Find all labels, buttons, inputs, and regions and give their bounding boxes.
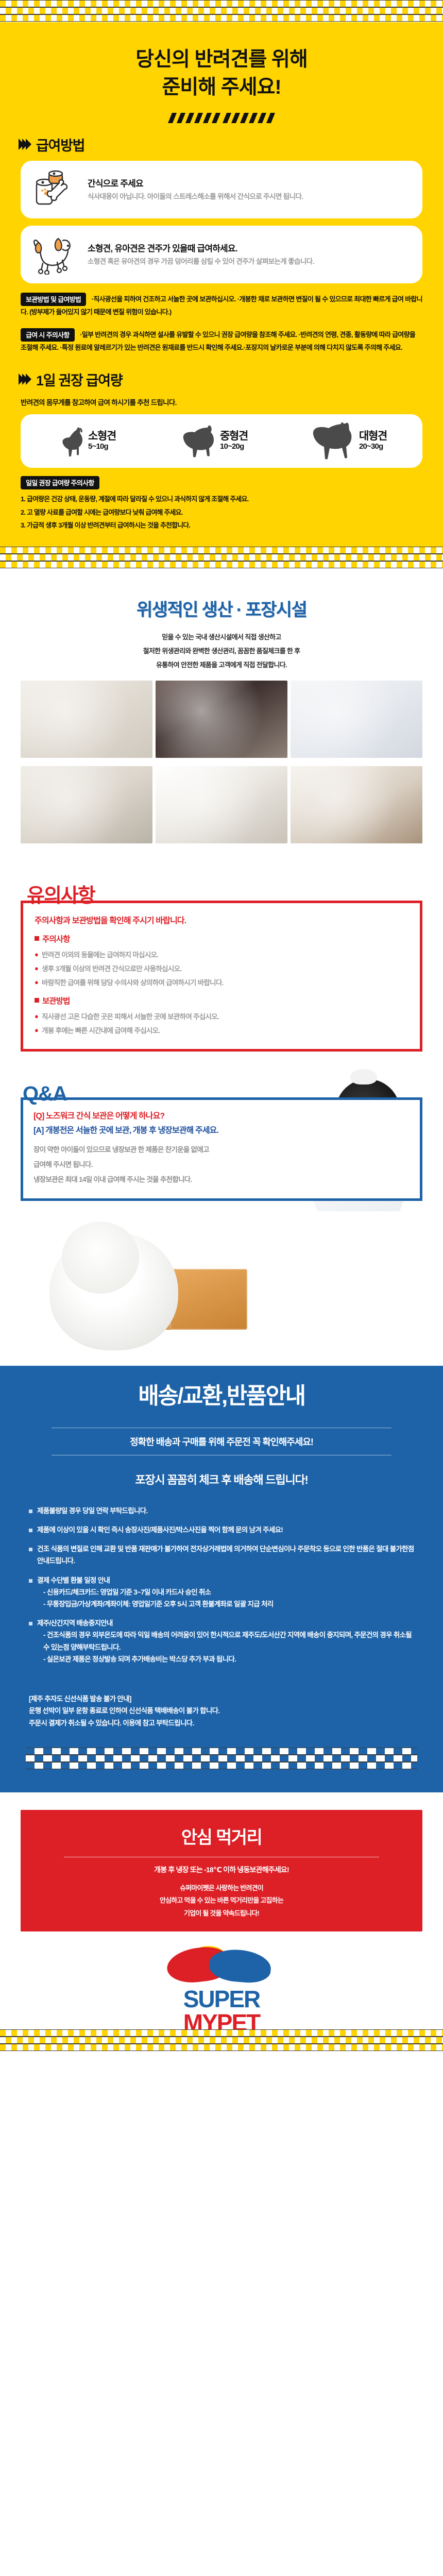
dog-size-label: 대형견 20~30g — [359, 431, 387, 451]
box-taping-photo — [291, 766, 422, 843]
chevrons-right-icon — [21, 139, 31, 150]
slash-divider — [0, 113, 443, 124]
daily-note-item: 1. 급여량은 건강 상태, 운동량, 계절에 따라 달라질 수 있으니 과식하… — [21, 493, 422, 506]
hero-title-line2: 준비해 주세요! — [0, 74, 443, 101]
qa-title: Q&A — [0, 1082, 443, 1106]
daily-notes-tag: 일일 권장 급여량 주의사항 — [21, 476, 99, 489]
white-fluffy-dog-with-box-photo — [0, 1211, 443, 1366]
checker-ribbon-blue-wrap — [0, 1748, 443, 1787]
shipping-item-text: 건조 식품의 변질로 인해 교환 및 반품 재판매가 불가하여 전자상거래법에 … — [37, 1543, 414, 1567]
brand-logo-art: SUPER MYPET www.supermypet.com 슈퍼마이펫 — [113, 1945, 330, 2022]
qa-question: [Q] 노즈워크 간식 보관은 어떻게 하나요? — [33, 1109, 410, 1124]
safe-food-title: 안심 먹거리 — [21, 1823, 422, 1849]
caution-item: ●반려견 이외의 동물에는 급여하지 마십시오. — [35, 948, 408, 962]
facility-section: 위생적인 생산 · 포장시설 믿을 수 있는 국내 생산시설에서 직접 생산하고… — [0, 569, 443, 857]
feeding-caution-text: ·일부 반려견의 경우 과식하면 설사를 유발할 수 있으니 권장 급여량을 참… — [21, 331, 415, 352]
shipping-item-sub: - 건조식품의 경우 외부온도에 따라 익일 배송의 어려움이 있어 한시적으로… — [37, 1629, 414, 1653]
divider — [64, 1857, 379, 1857]
quality-check-photo — [291, 681, 422, 758]
checker-ribbon-mid — [0, 547, 443, 569]
shipping-list-item: 결제 수단별 환불 일정 안내 - 신용카드/체크카드: 영업일 기준 3~7일… — [29, 1574, 414, 1611]
product-detail-page: 당신의 반려견를 위해 준비해 주세요! 급여방법 — [0, 0, 443, 2057]
square-bullet-icon — [29, 1579, 32, 1583]
shipping-subtitle2: 포장시 꼼꼼히 체크 후 배송해 드립니다! — [0, 1455, 443, 1505]
dot-bullet-icon: ● — [35, 1010, 38, 1024]
feeding-card-title: 간식으로 주세요 — [88, 176, 303, 189]
dog-size-item: 대형견 20~30g — [309, 422, 387, 460]
feeding-section: 당신의 반려견를 위해 준비해 주세요! 급여방법 — [0, 22, 443, 547]
feeding-heading-label: 급여방법 — [36, 134, 84, 155]
factory-rack-photo — [156, 681, 287, 758]
facility-desc-line: 철저한 위생관리와 완벽한 생산관리, 꼼꼼한 품질체크를 한 후 — [0, 644, 443, 658]
shipping-list-item: 제주/산간지역 배송중지안내 - 건조식품의 경우 외부온도에 따라 익일 배송… — [29, 1617, 414, 1665]
treat-jar-bone-icon — [30, 170, 79, 210]
dog-size-name: 소형견 — [88, 430, 116, 442]
hero-title: 당신의 반려견를 위해 준비해 주세요! — [0, 22, 443, 101]
square-bullet-icon — [29, 1622, 32, 1625]
shipping-title: 배송/교환,반품안내 — [0, 1366, 443, 1410]
caution-item: ●개봉 후에는 빠른 시간내에 급여해 주십시오. — [35, 1024, 408, 1038]
checker-row — [0, 7, 443, 14]
feeding-card-title: 소형견, 유아견은 견주가 있을때 급여하세요. — [88, 241, 314, 254]
brand-logo-section: SUPER MYPET www.supermypet.com 슈퍼마이펫 — [0, 1931, 443, 2057]
walking-dog-icon — [30, 234, 79, 275]
feeding-card: 소형견, 유아견은 견주가 있을때 급여하세요. 소형견 혹은 유아견의 경우 … — [21, 226, 422, 283]
shipping-note-line: 주문시 결제가 취소될 수 있습니다. 이용에 참고 부탁드립니다. — [29, 1717, 414, 1729]
shipping-list-item: 제품에 이상이 있을 시 확인 즉시 송장사진/제품사진/박스사진을 찍어 함께… — [29, 1524, 414, 1536]
caution-item-list: ●반려견 이외의 동물에는 급여하지 마십시오. ●생후 3개월 이상의 반려견… — [35, 948, 408, 990]
shipping-item-title: 제주/산간지역 배송중지안내 — [37, 1619, 113, 1627]
dot-bullet-icon: ● — [35, 1024, 38, 1038]
dog-size-label: 중형견 10~20g — [220, 431, 248, 451]
checker-ribbon-blue — [26, 1748, 417, 1770]
daily-note-item: 2. 고 열량 사료를 급여할 시에는 급여량보다 낮춰 급여해 주세요. — [21, 506, 422, 519]
facility-photo-row — [0, 672, 443, 758]
feeding-card-text: 소형견, 유아견은 견주가 있을때 급여하세요. 소형견 혹은 유아견의 경우 … — [88, 241, 314, 267]
shipping-item-sub: - 신용카드/체크카드: 영업일 기준 3~7일 이내 카드사 승인 취소 — [37, 1586, 273, 1598]
storage-method-block: 보관방법 및 급여방법 ·직사광선을 피하여 건조하고 서늘한 곳에 보관하십시… — [0, 291, 443, 318]
caution-item-list: ●직사광선 고온 다습한 곳은 피해서 서늘한 곳에 보관하여 주십시오. ●개… — [35, 1010, 408, 1038]
caution-group-label: 보관방법 — [42, 995, 70, 1006]
dot-bullet-icon: ● — [35, 948, 38, 962]
shipping-item-text: 제주/산간지역 배송중지안내 - 건조식품의 경우 외부온도에 따라 익일 배송… — [37, 1617, 414, 1665]
caution-lead: 주의사항과 보관방법을 확인해 주시기 바랍니다. — [35, 913, 408, 926]
small-dog-silhouette-icon — [56, 426, 85, 456]
daily-amount-subline: 반려견의 몸무게를 참고하여 급여 하시기를 추천 드립니다. — [0, 396, 443, 412]
qa-answer: [A] 개봉전은 서늘한 곳에 보관, 개봉 후 냉장보관해 주세요. — [33, 1124, 410, 1138]
dog-size-item: 소형견 5~10g — [56, 426, 116, 456]
facility-desc-line: 믿을 수 있는 국내 생산시설에서 직접 생산하고 — [0, 630, 443, 644]
feeding-caution-block: 급여 시 주의사항 ·일부 반려견의 경우 과식하면 설사를 유발할 수 있으니… — [0, 326, 443, 354]
daily-note-item: 3. 가급적 생후 3개월 이상 반려견부터 급여하시는 것을 추천합니다. — [21, 519, 422, 532]
caution-group-label: 주의사항 — [42, 933, 70, 944]
hero-title-line1: 당신의 반려견를 위해 — [0, 46, 443, 74]
square-bullet-icon — [29, 1510, 32, 1513]
checker-row — [0, 0, 443, 7]
dot-bullet-icon: ● — [35, 962, 38, 976]
shipping-item-title: 결제 수단별 환불 일정 안내 — [37, 1577, 110, 1584]
feeding-caution-tag: 급여 시 주의사항 — [21, 328, 75, 342]
dog-size-chart: 소형견 5~10g 중형견 10~20g 대형견 20~ — [21, 414, 422, 468]
qa-detail-line: 냉장보관은 최대 14일 이내 급여해 주시는 것을 추천합니다. — [33, 1172, 410, 1187]
caution-item: ●직사광선 고온 다습한 곳은 피해서 서늘한 곳에 보관하여 주십시오. — [35, 1010, 408, 1024]
caution-box: 주의사항과 보관방법을 확인해 주시기 바랍니다. 주의사항 ●반려견 이외의 … — [21, 901, 422, 1052]
caution-group-heading: 보관방법 — [35, 995, 408, 1006]
qa-detail-line: 급여해 주시면 됩니다. — [33, 1157, 410, 1172]
caution-section: 유의사항 주의사항과 보관방법을 확인해 주시기 바랍니다. 주의사항 ●반려견… — [0, 857, 443, 1067]
shipping-note-line: [제주 추자도 신선식품 발송 불가 안내] — [29, 1693, 414, 1705]
safe-food-subtitle: 개봉 후 냉장 또는 -18℃ 이하 냉동보관해주세요! — [21, 1865, 422, 1875]
safe-food-line: 안심하고 먹을 수 있는 바른 먹거리만을 고집하는 — [21, 1894, 422, 1907]
dog-size-name: 중형견 — [220, 430, 248, 442]
safe-food-section: 안심 먹거리 개봉 후 냉장 또는 -18℃ 이하 냉동보관해주세요! 슈퍼마이… — [0, 1792, 443, 1931]
shipping-hero: 배송/교환,반품안내 — [0, 1366, 443, 1428]
dot-bullet-icon: ● — [35, 976, 38, 990]
square-bullet-icon — [35, 936, 39, 941]
shipping-item-text: 제품에 이상이 있을 시 확인 즉시 송장사진/제품사진/박스사진을 찍어 함께… — [37, 1524, 283, 1536]
feeding-heading: 급여방법 — [0, 127, 443, 161]
feeding-card-text: 간식으로 주세요 식사대용이 아닙니다. 아이들의 스트레스해소를 위해서 간식… — [88, 176, 303, 202]
safe-food-line: 슈퍼마이펫은 사랑하는 반려견이 — [21, 1882, 422, 1895]
shipping-list-item: 제품불량일 경우 당일 연락 부탁드립니다. — [29, 1505, 414, 1517]
feeding-card-desc: 소형견 혹은 유아견의 경우 가끔 덩어리를 삼킬 수 있어 견주가 살펴보는게… — [88, 257, 314, 267]
brand-name-top: SUPER — [113, 1987, 330, 2011]
dog-size-weight: 5~10g — [88, 442, 108, 451]
clipboard-writing-photo — [156, 766, 287, 843]
dog-size-weight: 10~20g — [220, 442, 244, 451]
qa-box: [Q] 노즈워크 간식 보관은 어떻게 하나요? [A] 개봉전은 서늘한 곳에… — [21, 1097, 422, 1201]
shipping-note: [제주 추자도 신선식품 발송 불가 안내] 운행 선박이 일부 운항 종료로 … — [0, 1688, 443, 1748]
storage-method-tag: 보관방법 및 급여방법 — [21, 293, 86, 306]
dog-size-name: 대형견 — [359, 430, 387, 442]
facility-title: 위생적인 생산 · 포장시설 — [0, 596, 443, 621]
shipping-item-sub: - 실온보관 제품은 정상발송 되며 추가배송비는 박스당 추가 부과 됩니다. — [37, 1653, 414, 1665]
caution-item: ●바람직한 급여를 위해 담당 수의사와 상의하여 급여하시기 바랍니다. — [35, 976, 408, 990]
square-bullet-icon — [29, 1529, 32, 1532]
safe-food-line: 기업이 될 것을 약속드립니다! — [21, 1907, 422, 1920]
medium-dog-silhouette-icon — [177, 425, 217, 457]
lab-worker-photo — [21, 681, 152, 758]
dog-size-item: 중형견 10~20g — [177, 425, 248, 457]
glove-machine-photo — [21, 766, 152, 843]
shipping-item-sub: - 무통장입금/가상계좌/계좌이체: 영업일기준 오후 5시 고객 환불계좌로 … — [37, 1598, 273, 1610]
qa-section: Q&A [Q] 노즈워크 간식 보관은 어떻게 하나요? [A] 개봉전은 서늘… — [0, 1067, 443, 1211]
dog-size-label: 소형견 5~10g — [88, 431, 116, 451]
chevrons-right-icon — [21, 374, 31, 385]
shipping-subtitle: 정확한 배송과 구매를 위해 주문전 꼭 확인해주세요! — [0, 1428, 443, 1455]
facility-desc-line: 유통하여 안전한 제품을 고객에게 직접 전달합니다. — [0, 658, 443, 672]
qa-detail-line: 장이 약한 아이들이 있으므로 냉장보관 한 제품은 찬기운을 없애고 — [33, 1142, 410, 1157]
facility-desc: 믿을 수 있는 국내 생산시설에서 직접 생산하고 철저한 위생관리와 완벽한 … — [0, 630, 443, 672]
safe-food-banner: 안심 먹거리 개봉 후 냉장 또는 -18℃ 이하 냉동보관해주세요! 슈퍼마이… — [21, 1810, 422, 1931]
checker-row — [0, 14, 443, 22]
shipping-list-item: 건조 식품의 변질로 인해 교환 및 반품 재판매가 불가하여 전자상거래법에 … — [29, 1543, 414, 1567]
caution-group-heading: 주의사항 — [35, 933, 408, 944]
feeding-card: 간식으로 주세요 식사대용이 아닙니다. 아이들의 스트레스해소를 위해서 간식… — [21, 161, 422, 218]
shipping-list: 제품불량일 경우 당일 연락 부탁드립니다. 제품에 이상이 있을 시 확인 즉… — [0, 1505, 443, 1688]
daily-notes-list: 1. 급여량은 건강 상태, 운동량, 계절에 따라 달라질 수 있으니 과식하… — [0, 489, 443, 533]
caution-item: ●생후 3개월 이상의 반려견 간식으로만 사용하십시오. — [35, 962, 408, 976]
shipping-section: 배송/교환,반품안내 정확한 배송과 구매를 위해 주문전 꼭 확인해주세요! … — [0, 1366, 443, 1792]
feeding-card-desc: 식사대용이 아닙니다. 아이들의 스트레스해소를 위해서 간식으로 주시면 됩니… — [88, 192, 303, 202]
checker-ribbon-top — [0, 0, 443, 22]
shipping-note-line: 운행 선박이 일부 운항 종료로 인하여 신선식품 택배배송이 불가 합니다. — [29, 1705, 414, 1717]
daily-amount-heading-label: 1일 권장 급여량 — [36, 369, 122, 389]
shipping-item-text: 결제 수단별 환불 일정 안내 - 신용카드/체크카드: 영업일 기준 3~7일… — [37, 1574, 273, 1611]
square-bullet-icon — [35, 998, 39, 1003]
daily-notes-tag-block: 일일 권장 급여량 주의사항 — [0, 474, 443, 489]
logo-dogs-icon — [113, 1945, 330, 1987]
large-dog-silhouette-icon — [309, 422, 356, 460]
shipping-item-text: 제품불량일 경우 당일 연락 부탁드립니다. — [37, 1505, 148, 1517]
caution-title: 유의사항 — [0, 879, 443, 908]
facility-photo-row — [0, 758, 443, 843]
dog-size-weight: 20~30g — [359, 442, 383, 451]
daily-amount-heading: 1일 권장 급여량 — [0, 362, 443, 396]
square-bullet-icon — [29, 1548, 32, 1551]
